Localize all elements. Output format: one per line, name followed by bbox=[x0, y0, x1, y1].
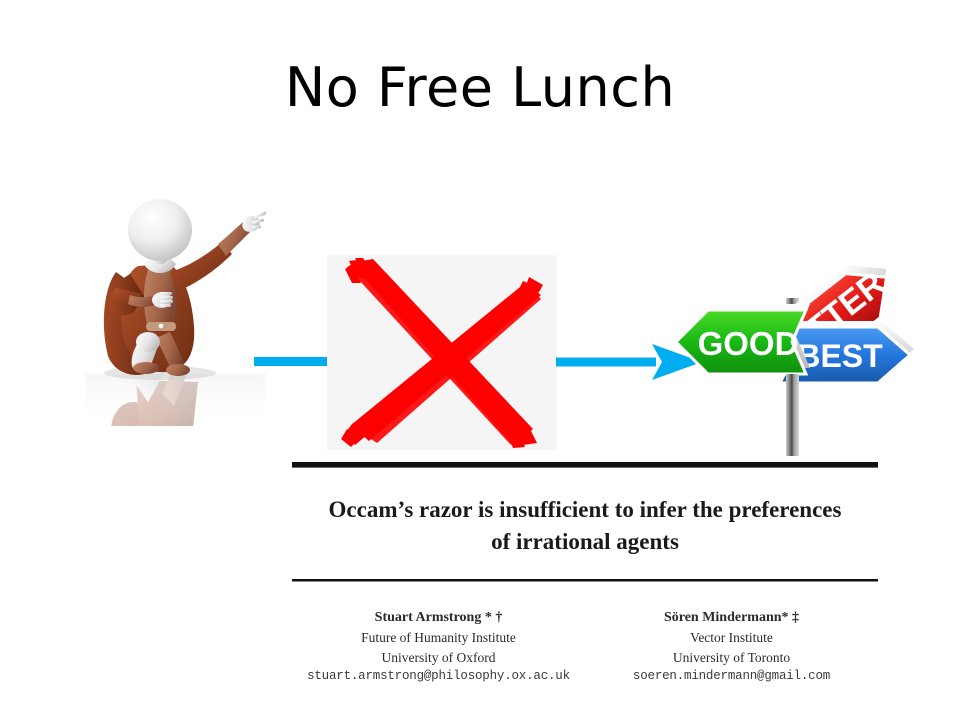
page-title: No Free Lunch bbox=[0, 58, 960, 117]
author-university: University of Toronto bbox=[585, 648, 878, 668]
slide-canvas: No Free Lunch bbox=[0, 0, 960, 720]
blue-line-icon bbox=[254, 357, 328, 366]
author-block-1: Stuart Armstrong * † Future of Humanity … bbox=[292, 608, 585, 686]
author-university: University of Oxford bbox=[292, 648, 585, 668]
author-block-2: Sören Mindermann* ‡ Vector Institute Uni… bbox=[585, 608, 878, 686]
author-email[interactable]: soeren.mindermann@gmail.com bbox=[585, 667, 878, 686]
red-brush-x-icon bbox=[327, 255, 557, 450]
author-email[interactable]: stuart.armstrong@philosophy.ox.ac.uk bbox=[292, 667, 585, 686]
three-way-signpost-icon: BETTER BEST GOOD bbox=[660, 222, 924, 456]
sign-label-best: BEST bbox=[797, 338, 883, 374]
paper-title-line-1: Occam’s razor is insufficient to infer t… bbox=[329, 497, 842, 522]
paper-excerpt: Occam’s razor is insufficient to infer t… bbox=[292, 462, 878, 582]
author-name: Sören Mindermann* ‡ bbox=[585, 608, 878, 628]
kneeling-robed-figure-pointing-icon bbox=[86, 196, 266, 426]
authors-row: Stuart Armstrong * † Future of Humanity … bbox=[292, 608, 878, 686]
paper-title-line-2: of irrational agents bbox=[491, 529, 679, 554]
sign-label-good: GOOD bbox=[698, 325, 799, 362]
author-name: Stuart Armstrong * † bbox=[292, 608, 585, 628]
paper-title: Occam’s razor is insufficient to infer t… bbox=[292, 468, 878, 579]
author-affiliation: Future of Humanity Institute bbox=[292, 628, 585, 648]
author-affiliation: Vector Institute bbox=[585, 628, 878, 648]
paper-rule-bottom bbox=[292, 579, 878, 582]
